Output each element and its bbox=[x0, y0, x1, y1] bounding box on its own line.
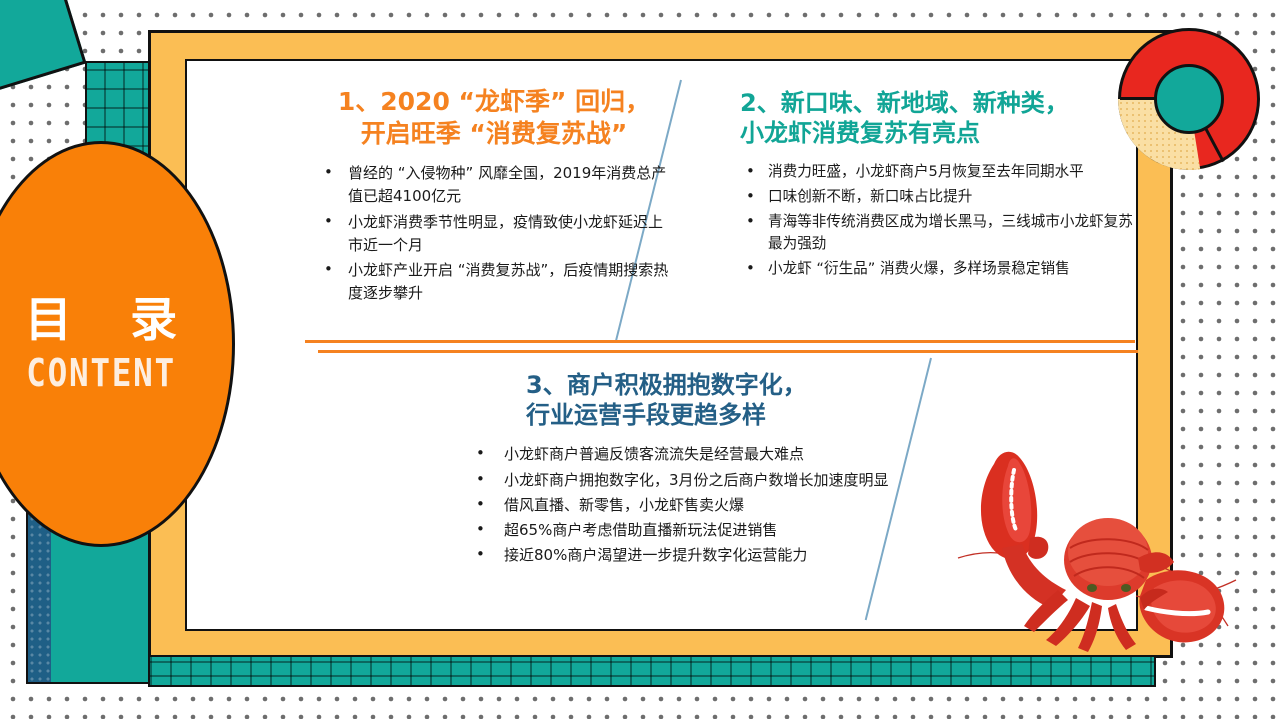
list-item: 借风直播、新零售，小龙虾售卖火爆 bbox=[470, 494, 890, 517]
list-item: 青海等非传统消费区成为增长黑马，三线城市小龙虾复苏最为强劲 bbox=[740, 211, 1140, 256]
list-item: 小龙虾产业开启 “消费复苏战”，后疫情期搜索热度逐步攀升 bbox=[318, 259, 670, 306]
list-item: 小龙虾商户普遍反馈客流流失是经营最大难点 bbox=[470, 443, 890, 466]
horizontal-divider-lower bbox=[318, 350, 1138, 353]
donut-chart-icon bbox=[1118, 28, 1260, 170]
content-title-en: CONTENT bbox=[26, 354, 176, 392]
list-item: 口味创新不断，新口味占比提升 bbox=[740, 186, 1140, 209]
section-1-bullet-list: 曾经的 “入侵物种” 风靡全国，2019年消费总产值已超4100亿元 小龙虾消费… bbox=[318, 162, 670, 306]
list-item: 接近80%商户渴望进一步提升数字化运营能力 bbox=[470, 544, 890, 567]
section-3-bullet-list: 小龙虾商户普遍反馈客流流失是经营最大难点 小龙虾商户拥抱数字化，3月份之后商户数… bbox=[470, 443, 890, 567]
list-item: 小龙虾商户拥抱数字化，3月份之后商户数增长加速度明显 bbox=[470, 469, 890, 492]
list-item: 曾经的 “入侵物种” 风靡全国，2019年消费总产值已超4100亿元 bbox=[318, 162, 670, 209]
section-1: 1、2020 “龙虾季” 回归， 开启旺季 “消费复苏战” 曾经的 “入侵物种”… bbox=[318, 86, 670, 308]
list-item: 超65%商户考虑借助直播新玩法促进销售 bbox=[470, 519, 890, 542]
donut-hub bbox=[1154, 64, 1224, 134]
section-2-bullet-list: 消费力旺盛，小龙虾商户5月恢复至去年同期水平 口味创新不断，新口味占比提升 青海… bbox=[740, 161, 1140, 280]
section-2: 2、新口味、新地域、新种类， 小龙虾消费复苏有亮点 消费力旺盛，小龙虾商户5月恢… bbox=[740, 88, 1140, 283]
horizontal-divider-upper bbox=[305, 340, 1135, 343]
content-title-cn: 目 录 bbox=[4, 297, 198, 344]
list-item: 小龙虾 “衍生品” 消费火爆，多样场景稳定销售 bbox=[740, 258, 1140, 281]
section-3: 3、商户积极拥抱数字化， 行业运营手段更趋多样 小龙虾商户普遍反馈客流流失是经营… bbox=[470, 370, 890, 570]
slide-canvas: 1、2020 “龙虾季” 回归， 开启旺季 “消费复苏战” 曾经的 “入侵物种”… bbox=[0, 0, 1279, 719]
list-item: 小龙虾消费季节性明显，疫情致使小龙虾延迟上市近一个月 bbox=[318, 211, 670, 258]
section-1-title: 1、2020 “龙虾季” 回归， 开启旺季 “消费复苏战” bbox=[318, 86, 670, 149]
section-3-title: 3、商户积极拥抱数字化， 行业运营手段更趋多样 bbox=[526, 370, 890, 430]
section-2-title: 2、新口味、新地域、新种类， 小龙虾消费复苏有亮点 bbox=[740, 88, 1140, 148]
list-item: 消费力旺盛，小龙虾商户5月恢复至去年同期水平 bbox=[740, 161, 1140, 184]
lobster-photo bbox=[950, 430, 1240, 670]
